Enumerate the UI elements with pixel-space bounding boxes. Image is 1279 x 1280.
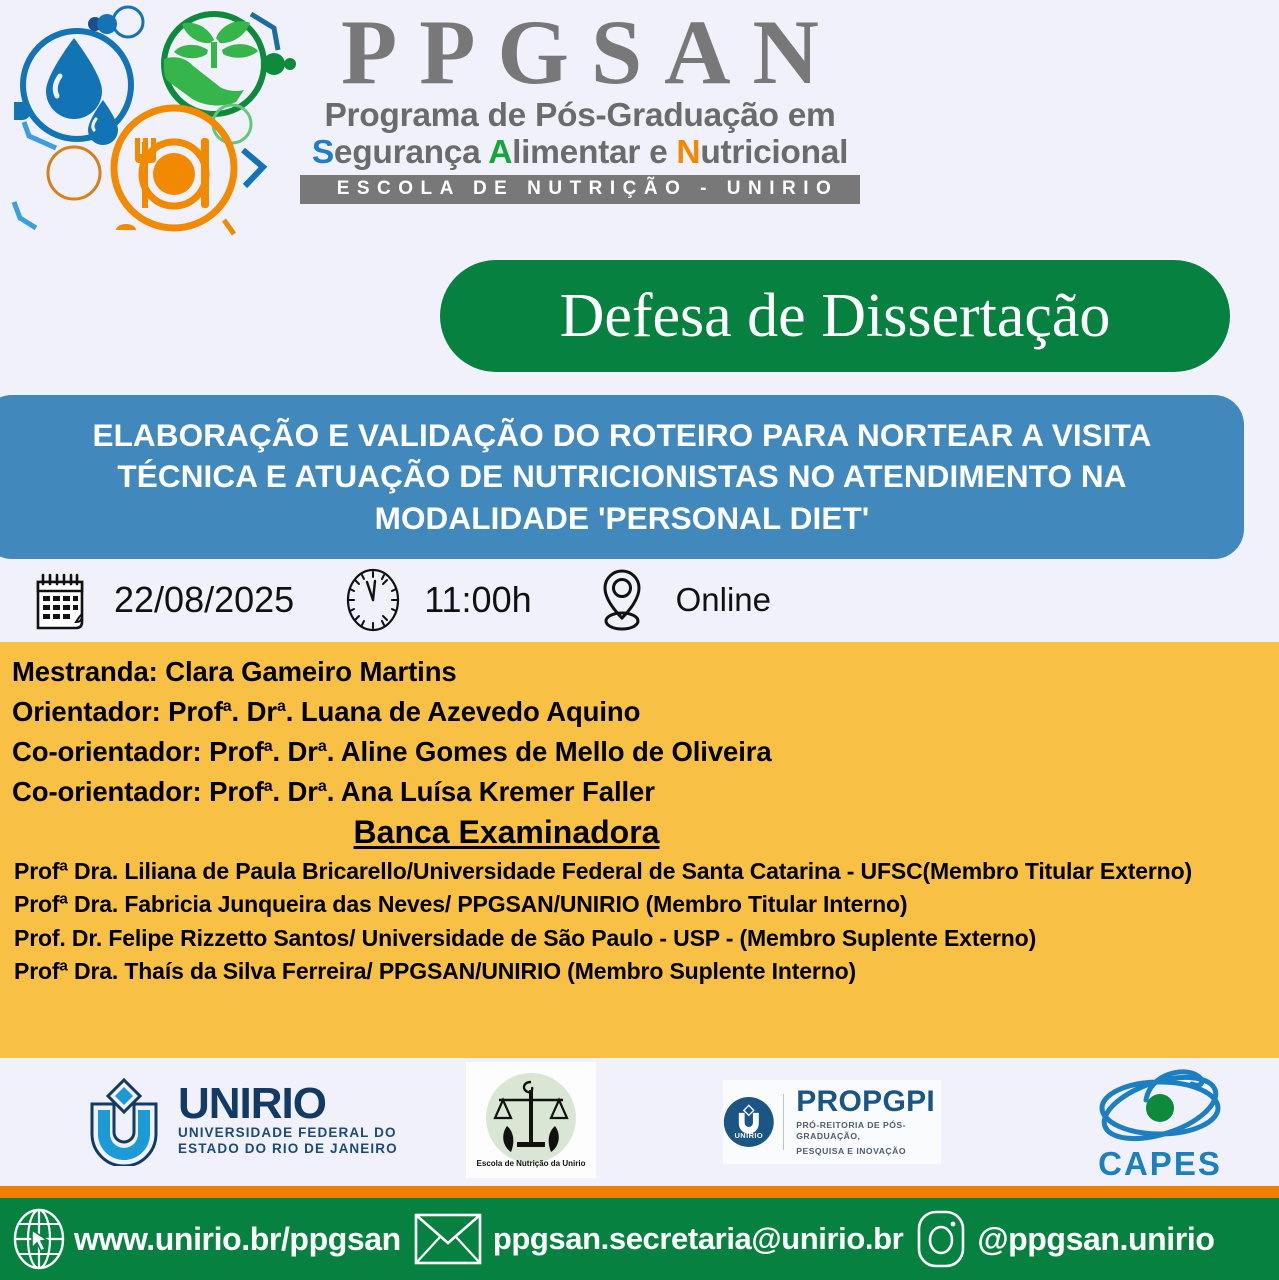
contact-email[interactable]: ppgsan.secretaria@unirio.br <box>413 1211 904 1267</box>
event-time: 11:00h <box>424 579 531 621</box>
propgpi-name: PROPGPI <box>796 1087 941 1117</box>
propgpi-wordmark: PROPGPI PRÓ-REITORIA DE PÓS-GRADUAÇÃO, P… <box>796 1087 941 1158</box>
ppgsan-letter-s: S <box>312 134 334 171</box>
unirio-sub2: ESTADO DO RIO DE JANEIRO <box>178 1141 398 1157</box>
banca-member: Profª Dra. Fabricia Junqueira das Neves/… <box>14 888 1269 922</box>
ppgsan-acronym: PPGSAN <box>300 4 860 101</box>
contact-website[interactable]: www.unirio.br/ppgsan <box>10 1206 401 1272</box>
participants-section: Mestranda: Clara Gameiro Martins Orienta… <box>0 642 1279 1058</box>
orange-divider <box>0 1186 1279 1198</box>
envelope-icon <box>413 1211 483 1267</box>
map-pin-icon <box>594 567 650 633</box>
people-line-coorientador-2: Co-orientador: Profa. Dra. Ana Luísa Kre… <box>12 772 1271 812</box>
school-bar: ESCOLA DE NUTRIÇÃO - UNIRIO <box>300 175 860 204</box>
ppgsan-letter-n: N <box>676 134 700 171</box>
event-date: 22/08/2025 <box>114 579 294 621</box>
unirio-wordmark: UNIRIO UNIVERSIDADE FEDERAL DO ESTADO DO… <box>178 1083 398 1157</box>
capes-logo: CAPES <box>1080 1066 1240 1178</box>
poster-header: PPGSAN Programa de Pós-Graduação em Segu… <box>0 0 1279 250</box>
contact-footer: www.unirio.br/ppgsan ppgsan.secretaria@u… <box>0 1198 1279 1280</box>
banca-member-list: Profª Dra. Liliana de Paula Bricarello/U… <box>12 855 1271 989</box>
people-name-2: Aline Gomes de Mello de Oliveira <box>341 736 772 767</box>
sdg-icons-svg <box>2 2 302 250</box>
globe-cursor-icon <box>10 1206 68 1272</box>
capes-emblem-icon <box>1080 1066 1240 1144</box>
fork-icon <box>135 154 156 163</box>
instagram-icon <box>915 1208 967 1270</box>
ordinal-a: a <box>223 698 232 715</box>
ring-blue <box>113 7 143 37</box>
unirio-name: UNIRIO <box>178 1083 398 1125</box>
ordinal-a: a <box>318 778 327 795</box>
people-line-coorientador-1: Co-orientador: Profa. Dra. Aline Gomes d… <box>12 732 1271 772</box>
email-text: ppgsan.secretaria@unirio.br <box>493 1221 904 1257</box>
ppgsan-wordmark: PPGSAN Programa de Pós-Graduação em Segu… <box>300 4 860 204</box>
propgpi-sub2: PESQUISA E INOVAÇÃO <box>796 1146 941 1158</box>
banca-member: Profª Dra. Thaís da Silva Ferreira/ PPGS… <box>14 955 1269 989</box>
dot-green <box>263 53 285 75</box>
banca-member: Profª Dra. Liliana de Paula Bricarello/U… <box>14 855 1269 889</box>
unirio-logo: UNIRIO UNIVERSIDADE FEDERAL DO ESTADO DO… <box>78 1072 398 1168</box>
capes-name: CAPES <box>1080 1145 1240 1183</box>
ppgsan-word-seguranca: egurança <box>334 134 488 171</box>
propgpi-badge-label: UNIRIO <box>734 1131 763 1140</box>
calendar-icon <box>26 566 94 634</box>
contact-instagram[interactable]: @ppgsan.unirio <box>915 1208 1214 1270</box>
ppgsan-icon-cluster <box>2 2 302 250</box>
event-type-badge: Defesa de Dissertação <box>440 260 1230 372</box>
instagram-text: @ppgsan.unirio <box>977 1221 1214 1258</box>
sponsor-logo-strip: UNIRIO UNIVERSIDADE FEDERAL DO ESTADO DO… <box>0 1058 1279 1186</box>
people-role-2: Co-orientador: <box>12 736 202 767</box>
propgpi-logo: UNIRIO PROPGPI PRÓ-REITORIA DE PÓS-GRADU… <box>723 1080 941 1164</box>
thesis-title: ELABORAÇÃO E VALIDAÇÃO DO ROTEIRO PARA N… <box>38 415 1206 540</box>
people-role-3: Co-orientador: <box>12 776 202 807</box>
propgpi-unirio-badge-icon: UNIRIO <box>723 1091 775 1153</box>
ppgsan-line1: Programa de Pós-Graduação em <box>300 97 860 135</box>
escola-seal-caption: Escola de Nutrição da Unirio <box>477 1159 585 1168</box>
unirio-emblem-icon <box>78 1074 170 1166</box>
ppgsan-letter-a: A <box>488 134 512 171</box>
ordinal-a: a <box>277 698 286 715</box>
clock-icon <box>342 567 404 633</box>
event-location: Online <box>676 581 771 619</box>
event-date-item: 22/08/2025 <box>26 566 294 634</box>
escola-nutricao-seal-icon: Escola de Nutrição da Unirio <box>477 1066 585 1174</box>
ordinal-a: a <box>318 738 327 755</box>
thesis-title-banner: ELABORAÇÃO E VALIDAÇÃO DO ROTEIRO PARA N… <box>0 395 1244 559</box>
chevron-blue-icon <box>243 150 263 186</box>
people-line-mestranda: Mestranda: Clara Gameiro Martins <box>12 652 1271 692</box>
people-name-1: Luana de Azevedo Aquino <box>301 696 640 727</box>
people-line-orientador: Orientador: Profa. Dra. Luana de Azevedo… <box>12 692 1271 732</box>
people-name-3: Ana Luísa Kremer Faller <box>341 776 655 807</box>
ordinal-a: a <box>264 738 273 755</box>
defense-announcement-poster: PPGSAN Programa de Pós-Graduação em Segu… <box>0 0 1279 1280</box>
propgpi-divider <box>783 1094 785 1150</box>
unirio-sub1: UNIVERSIDADE FEDERAL DO <box>178 1125 398 1141</box>
water-drop-icon <box>46 38 102 119</box>
event-type-label: Defesa de Dissertação <box>560 281 1111 352</box>
ordinal-a: a <box>264 778 273 795</box>
event-details-row: 22/08/2025 11:00h Onli <box>0 560 1279 640</box>
people-role-0: Mestranda: <box>12 656 158 687</box>
ppgsan-word-alimentar: limentar e <box>512 134 676 171</box>
people-role-1: Orientador: <box>12 696 161 727</box>
ring-orange <box>48 147 100 199</box>
event-time-item: 11:00h <box>342 567 531 633</box>
escola-nutricao-seal: Escola de Nutrição da Unirio <box>466 1062 596 1178</box>
event-location-item: Online <box>594 567 771 633</box>
people-name-0: Clara Gameiro Martins <box>165 656 456 687</box>
banca-heading: Banca Examinadora <box>12 814 1271 851</box>
dot-green-small <box>284 58 296 70</box>
propgpi-sub1: PRÓ-REITORIA DE PÓS-GRADUAÇÃO, <box>796 1120 941 1143</box>
ppgsan-line2: Segurança Alimentar e Nutricional <box>300 134 860 172</box>
ppgsan-word-nutricional: utricional <box>700 134 848 171</box>
website-text: www.unirio.br/ppgsan <box>74 1221 401 1258</box>
banca-member: Prof. Dr. Felipe Rizzetto Santos/ Univer… <box>14 922 1269 956</box>
plate-inner <box>153 153 195 195</box>
